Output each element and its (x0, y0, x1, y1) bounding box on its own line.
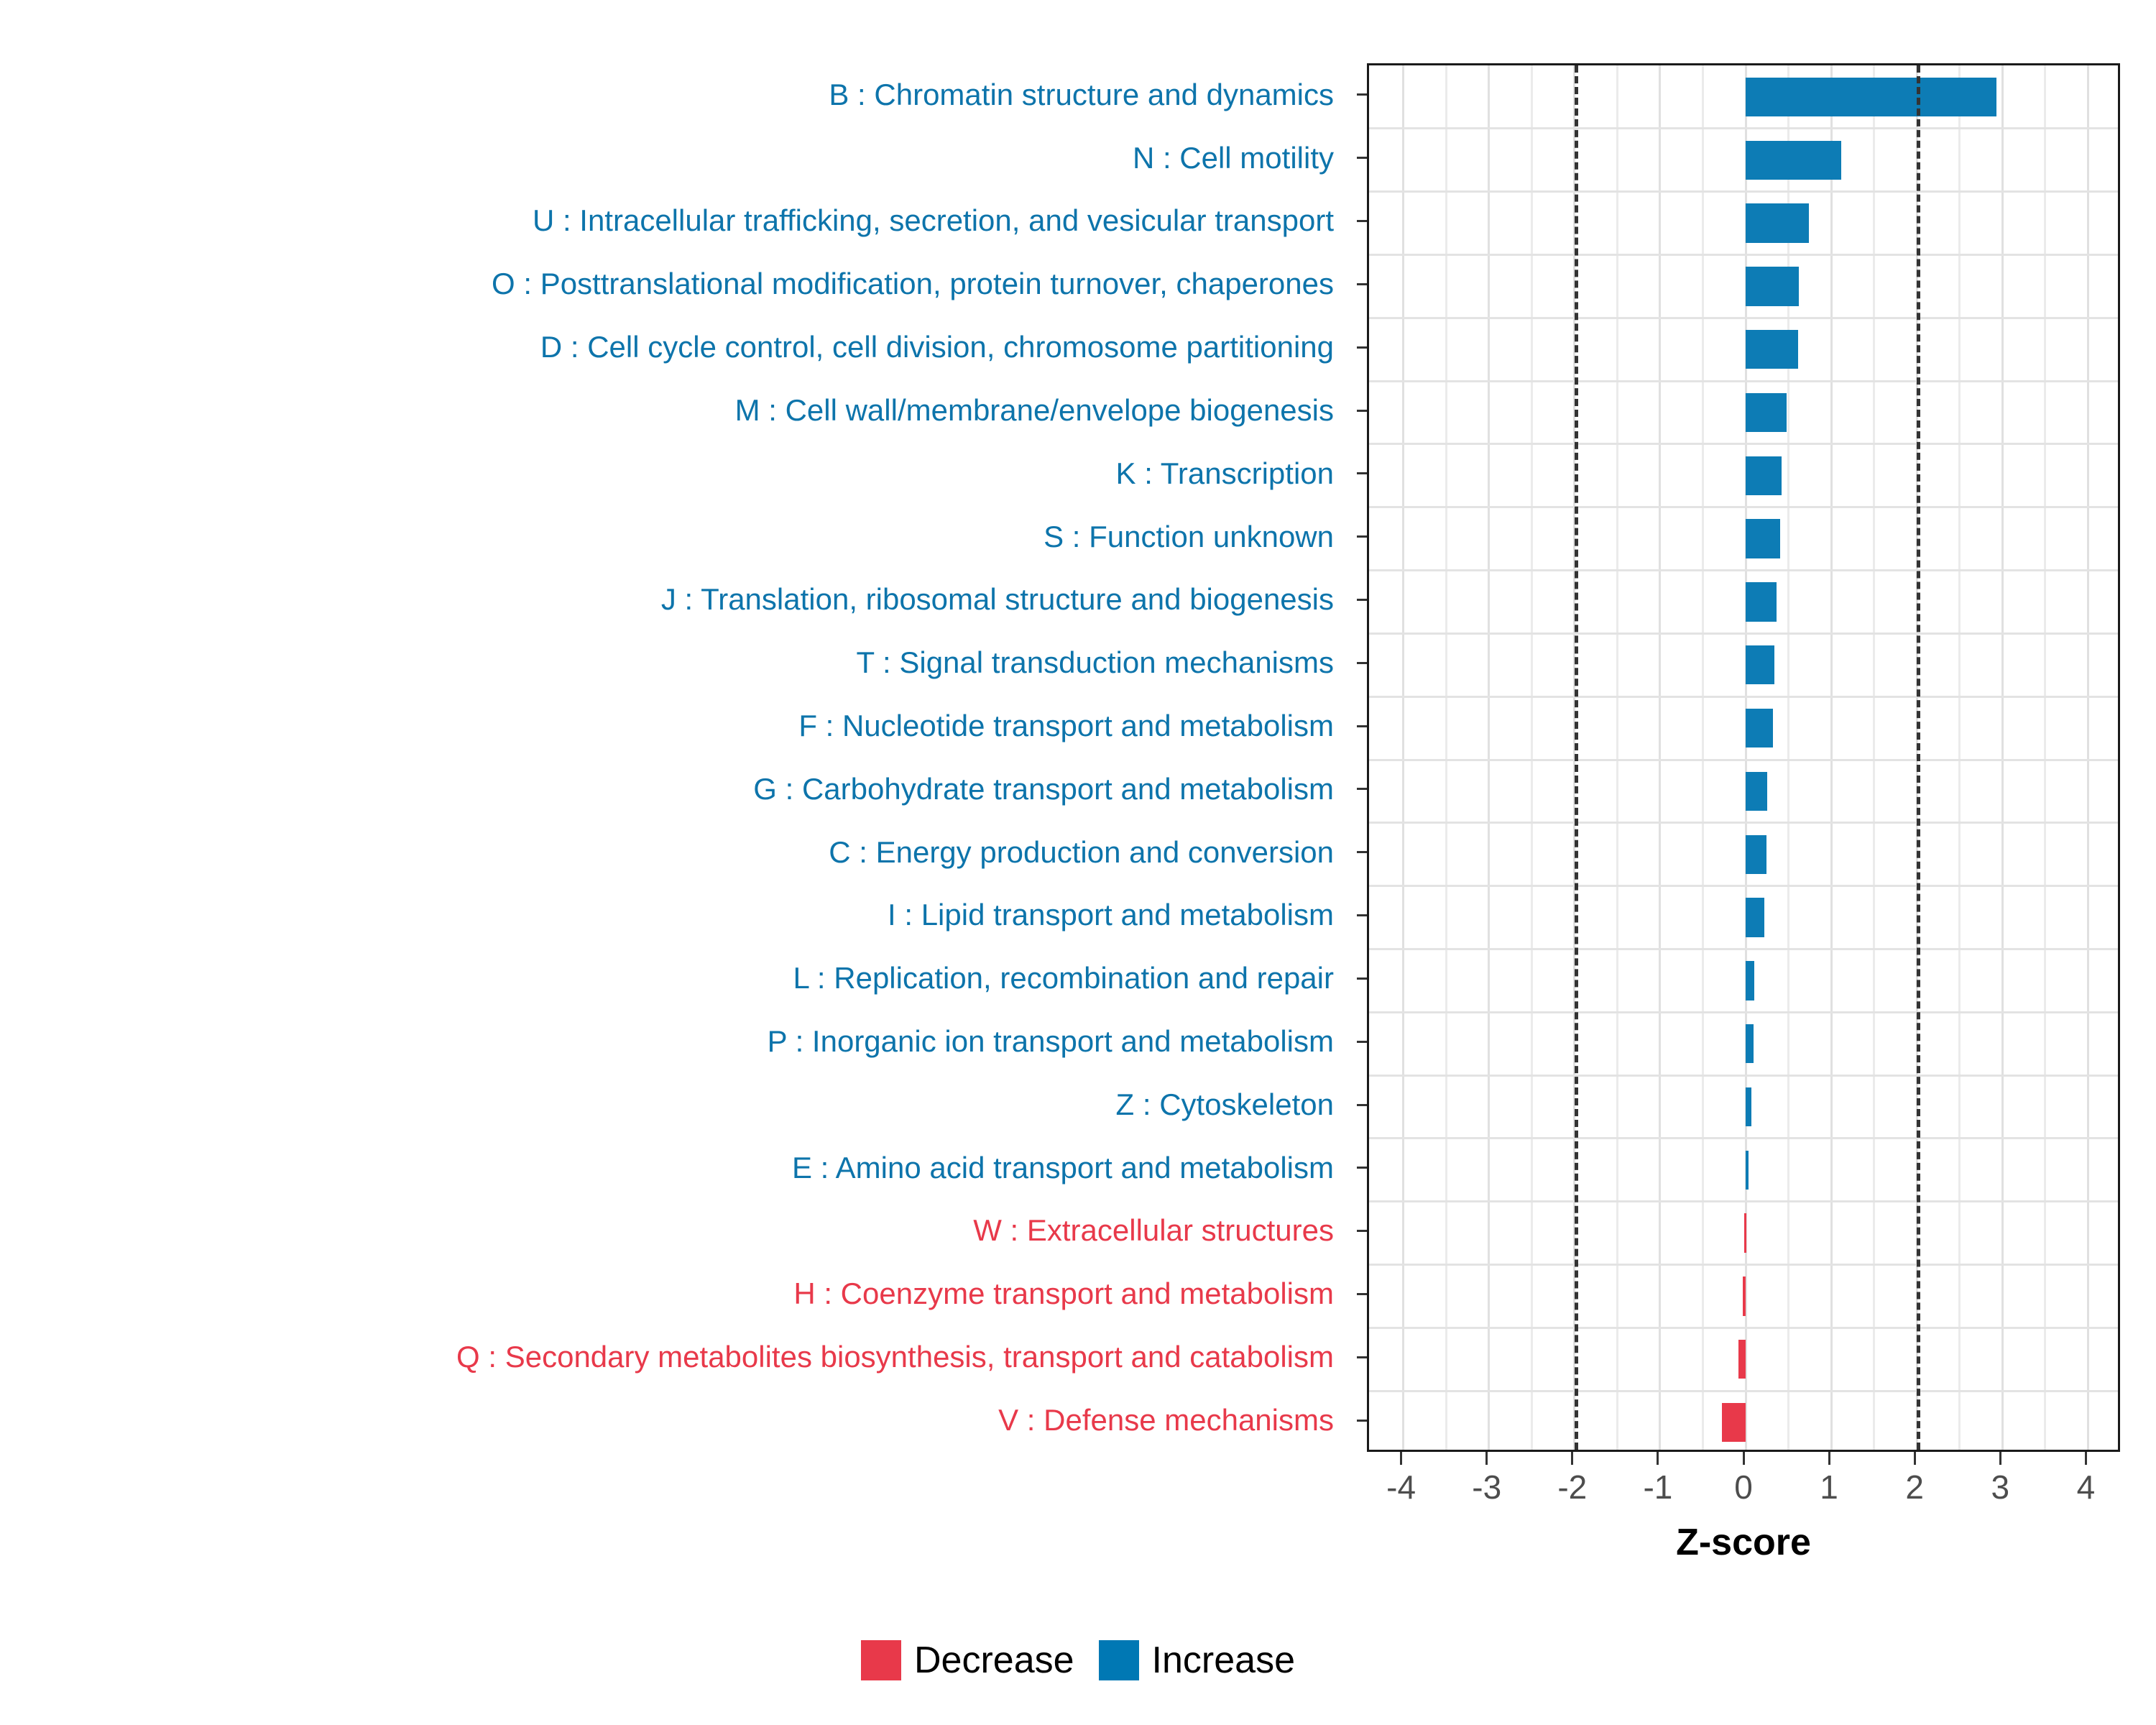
bar-row (1369, 141, 2118, 180)
bar (1746, 1151, 1749, 1190)
bar (1746, 267, 1799, 305)
reference-line (1575, 65, 1578, 1450)
bar-row (1369, 961, 2118, 1000)
y-axis-category-labels: B : Chromatin structure and dynamicsN : … (0, 63, 1345, 1452)
y-axis-category-label: G : Carbohydrate transport and metabolis… (753, 773, 1334, 805)
y-axis-category-label: C : Energy production and conversion (829, 837, 1334, 868)
y-axis-label-row: L : Replication, recombination and repai… (0, 947, 1345, 1010)
x-axis-tick-label: 1 (1820, 1468, 1838, 1506)
x-axis-tick-label: -2 (1557, 1468, 1587, 1506)
x-axis-tick (1828, 1452, 1830, 1465)
bar (1746, 582, 1777, 621)
y-axis-category-label: V : Defense mechanisms (998, 1404, 1334, 1436)
bar-row (1369, 1403, 2118, 1442)
y-axis-label-row: B : Chromatin structure and dynamics (0, 63, 1345, 126)
y-axis-label-row: F : Nucleotide transport and metabolism (0, 694, 1345, 758)
x-axis-tick (2085, 1452, 2087, 1465)
y-axis-tick (1357, 1356, 1367, 1358)
y-axis-label-row: H : Coenzyme transport and metabolism (0, 1262, 1345, 1325)
x-axis-tick-label: 4 (2077, 1468, 2096, 1506)
y-axis-tick (1357, 1104, 1367, 1106)
x-axis-tick (1571, 1452, 1573, 1465)
y-axis-category-label: L : Replication, recombination and repai… (793, 962, 1334, 994)
y-axis-category-label: T : Signal transduction mechanisms (856, 647, 1334, 678)
y-axis-category-label: K : Transcription (1116, 458, 1334, 489)
y-axis-label-row: D : Cell cycle control, cell division, c… (0, 316, 1345, 379)
chart-legend: DecreaseIncrease (0, 1639, 2156, 1682)
bar (1746, 898, 1764, 937)
y-axis-category-label: W : Extracellular structures (973, 1215, 1334, 1246)
bar (1746, 772, 1767, 811)
bar-row (1369, 772, 2118, 811)
bar-row (1369, 1340, 2118, 1379)
y-axis-tick (1357, 662, 1367, 664)
y-axis-label-row: Z : Cytoskeleton (0, 1073, 1345, 1136)
y-axis-tick (1357, 410, 1367, 412)
bar (1738, 1340, 1746, 1379)
y-axis-tick (1357, 472, 1367, 474)
bar (1746, 141, 1841, 180)
bar-row (1369, 1276, 2118, 1315)
bar (1744, 1213, 1746, 1252)
x-axis-tick-label: 3 (1991, 1468, 2009, 1506)
x-axis-tick (1657, 1452, 1659, 1465)
y-axis-tick (1357, 1041, 1367, 1043)
x-axis-tick-label: -3 (1472, 1468, 1501, 1506)
y-axis-tick (1357, 914, 1367, 916)
y-axis-tick (1357, 851, 1367, 853)
legend-item[interactable]: Decrease (861, 1639, 1074, 1682)
y-axis-label-row: U : Intracellular trafficking, secretion… (0, 190, 1345, 253)
y-axis-tick (1357, 1293, 1367, 1295)
y-axis-category-label: N : Cell motility (1133, 142, 1334, 174)
bar-row (1369, 1024, 2118, 1063)
bar-series (1369, 65, 2118, 1450)
bar-row (1369, 393, 2118, 432)
y-axis-tick (1357, 1167, 1367, 1169)
x-axis-tick-label: 0 (1734, 1468, 1753, 1506)
bar (1746, 78, 1996, 116)
y-axis-label-row: V : Defense mechanisms (0, 1389, 1345, 1452)
x-axis-tick (1400, 1452, 1402, 1465)
bar-row (1369, 645, 2118, 684)
x-axis-tick-label: -4 (1386, 1468, 1416, 1506)
y-axis-category-label: Q : Secondary metabolites biosynthesis, … (456, 1341, 1334, 1373)
y-axis-tick (1357, 157, 1367, 159)
bar-row (1369, 203, 2118, 242)
legend-label: Decrease (914, 1639, 1074, 1682)
y-axis-category-label: J : Translation, ribosomal structure and… (661, 584, 1334, 615)
y-axis-tick (1357, 599, 1367, 601)
y-axis-label-row: M : Cell wall/membrane/envelope biogenes… (0, 379, 1345, 442)
bar-row (1369, 582, 2118, 621)
bar (1746, 203, 1809, 242)
bar-row (1369, 898, 2118, 937)
y-axis-category-label: O : Posttranslational modification, prot… (492, 268, 1334, 300)
y-axis-label-row: Q : Secondary metabolites biosynthesis, … (0, 1325, 1345, 1389)
y-axis-category-label: D : Cell cycle control, cell division, c… (540, 331, 1334, 363)
reference-line (1917, 65, 1920, 1450)
bar-row (1369, 1151, 2118, 1190)
y-axis-label-row: K : Transcription (0, 442, 1345, 505)
y-axis-category-label: U : Intracellular trafficking, secretion… (533, 205, 1334, 236)
x-axis-title: Z-score (1367, 1521, 2120, 1564)
y-axis-tick (1357, 93, 1367, 96)
legend-item[interactable]: Increase (1099, 1639, 1295, 1682)
bar-chart: B : Chromatin structure and dynamicsN : … (0, 0, 2156, 1610)
y-axis-tick (1357, 725, 1367, 727)
y-axis-category-label: H : Coenzyme transport and metabolism (793, 1278, 1334, 1310)
y-axis-label-row: G : Carbohydrate transport and metabolis… (0, 758, 1345, 821)
y-axis-category-label: M : Cell wall/membrane/envelope biogenes… (735, 395, 1334, 426)
y-axis-category-label: Z : Cytoskeleton (1116, 1089, 1334, 1121)
y-axis-tick (1357, 283, 1367, 285)
bar (1746, 961, 1754, 1000)
bar (1746, 709, 1773, 747)
bar-row (1369, 835, 2118, 874)
legend-label: Increase (1152, 1639, 1295, 1682)
x-axis-tick-label: -1 (1643, 1468, 1672, 1506)
y-axis-tick (1357, 1230, 1367, 1232)
y-axis-label-row: T : Signal transduction mechanisms (0, 631, 1345, 694)
y-axis-label-row: E : Amino acid transport and metabolism (0, 1136, 1345, 1200)
bar (1746, 835, 1766, 874)
y-axis-tick (1357, 977, 1367, 980)
x-axis-tick (1914, 1452, 1916, 1465)
bar (1746, 393, 1787, 432)
bar (1722, 1403, 1746, 1442)
y-axis-tick-marks (1357, 63, 1367, 1452)
bar-row (1369, 709, 2118, 747)
y-axis-tick (1357, 1420, 1367, 1422)
bar (1746, 519, 1780, 558)
bar (1746, 645, 1774, 684)
x-axis-tick (1485, 1452, 1488, 1465)
y-axis-category-label: B : Chromatin structure and dynamics (829, 79, 1334, 111)
bar-row (1369, 1087, 2118, 1126)
y-axis-label-row: S : Function unknown (0, 505, 1345, 569)
chart-root: B : Chromatin structure and dynamicsN : … (0, 0, 2156, 1725)
bar (1746, 1087, 1751, 1126)
bar (1746, 1024, 1754, 1063)
bar-row (1369, 78, 2118, 116)
legend-swatch-icon (1099, 1640, 1139, 1680)
y-axis-category-label: P : Inorganic ion transport and metaboli… (768, 1026, 1334, 1057)
y-axis-category-label: E : Amino acid transport and metabolism (792, 1152, 1334, 1184)
plot-panel (1367, 63, 2120, 1452)
y-axis-category-label: S : Function unknown (1044, 521, 1334, 553)
bar (1746, 330, 1798, 369)
bar-row (1369, 1213, 2118, 1252)
bar-row (1369, 456, 2118, 495)
y-axis-label-row: P : Inorganic ion transport and metaboli… (0, 1010, 1345, 1073)
bar-row (1369, 519, 2118, 558)
y-axis-category-label: I : Lipid transport and metabolism (888, 899, 1334, 931)
y-axis-category-label: F : Nucleotide transport and metabolism (798, 710, 1334, 742)
x-axis-tick-label: 2 (1905, 1468, 1924, 1506)
bar-row (1369, 267, 2118, 305)
y-axis-tick (1357, 220, 1367, 222)
bar (1743, 1276, 1746, 1315)
y-axis-label-row: C : Energy production and conversion (0, 821, 1345, 884)
x-axis-tick (1999, 1452, 2001, 1465)
x-axis-tick (1743, 1452, 1745, 1465)
bar-row (1369, 330, 2118, 369)
y-axis-label-row: O : Posttranslational modification, prot… (0, 252, 1345, 316)
y-axis-label-row: J : Translation, ribosomal structure and… (0, 569, 1345, 632)
legend-swatch-icon (861, 1640, 901, 1680)
y-axis-tick (1357, 346, 1367, 349)
y-axis-tick (1357, 535, 1367, 538)
y-axis-label-row: I : Lipid transport and metabolism (0, 884, 1345, 947)
y-axis-label-row: N : Cell motility (0, 126, 1345, 190)
bar (1746, 456, 1782, 495)
y-axis-label-row: W : Extracellular structures (0, 1200, 1345, 1263)
y-axis-tick (1357, 788, 1367, 790)
